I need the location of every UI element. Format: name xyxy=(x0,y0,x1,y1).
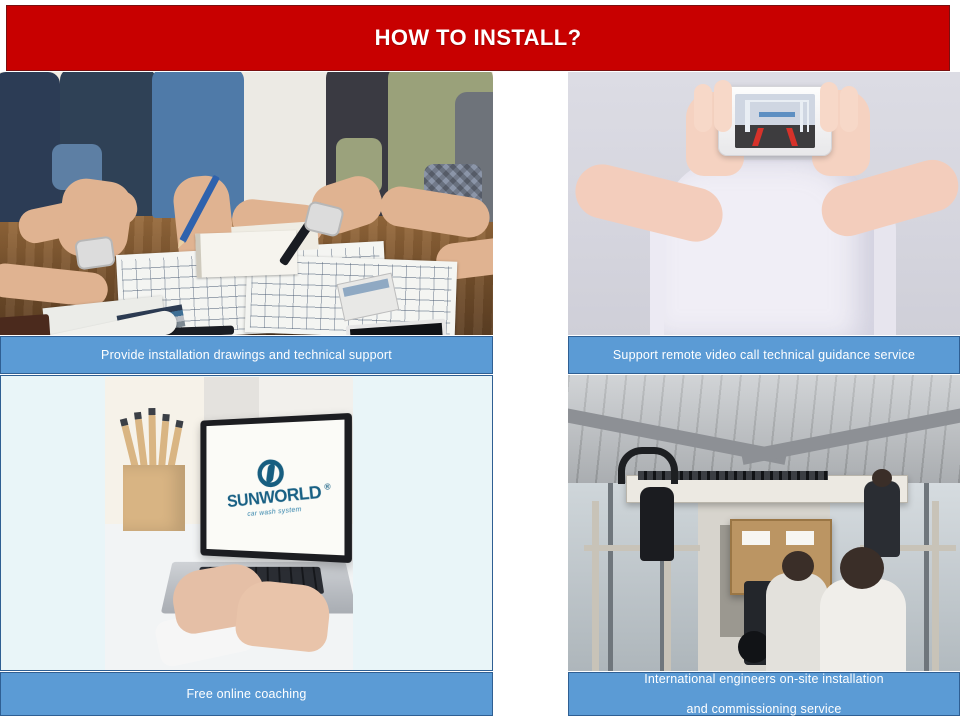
panel-bottom-right-photo xyxy=(568,375,960,671)
photo-video-call-guidance xyxy=(568,72,960,335)
worker-head xyxy=(782,551,814,581)
finger xyxy=(694,84,712,132)
header-banner: HOW TO INSTALL? xyxy=(6,5,950,71)
slide-root: HOW TO INSTALL? xyxy=(0,0,960,720)
registered-mark: ® xyxy=(324,482,331,492)
photo-installation-drawings xyxy=(0,72,493,335)
worker-head xyxy=(872,469,892,487)
caption-bottom-right: International engineers on-site installa… xyxy=(568,672,960,716)
photo-online-coaching: SUNWORLD® car wash system xyxy=(105,377,353,670)
mullion xyxy=(924,483,929,671)
crate-label xyxy=(742,531,770,545)
caption-text: Free online coaching xyxy=(178,687,314,702)
caption-line-1: International engineers on-site installa… xyxy=(636,672,892,687)
caption-top-left: Provide installation drawings and techni… xyxy=(0,336,493,374)
scaffold-post xyxy=(932,501,939,671)
worker-head xyxy=(840,547,884,589)
laptop: SUNWORLD® car wash system xyxy=(167,417,351,627)
caption-line-2: and commissioning service xyxy=(636,702,892,717)
finger xyxy=(840,86,858,132)
caption-text: International engineers on-site installa… xyxy=(628,672,900,717)
caption-text: Provide installation drawings and techni… xyxy=(93,348,400,363)
photo-onsite-installation xyxy=(568,375,960,671)
gantry-leg xyxy=(747,102,750,132)
panel-bottom-left-photo: SUNWORLD® car wash system xyxy=(0,375,493,671)
smartphone xyxy=(718,86,832,156)
mullion xyxy=(608,483,613,671)
wallet xyxy=(0,314,51,335)
glass-wall xyxy=(568,483,700,671)
panel-top-left-photo xyxy=(0,72,493,335)
worker-on-scaffold xyxy=(864,481,900,557)
finger xyxy=(714,80,732,132)
laptop-screen: SUNWORLD® car wash system xyxy=(206,420,344,556)
person-torso xyxy=(0,72,60,222)
laptop-lid: SUNWORLD® car wash system xyxy=(200,413,352,563)
caption-text: Support remote video call technical guid… xyxy=(605,348,923,363)
crate-label xyxy=(786,531,814,545)
panel-top-right-photo xyxy=(568,72,960,335)
worker-white-shirt xyxy=(820,579,906,671)
cable-chain-arc xyxy=(618,447,678,484)
wristwatch xyxy=(74,236,116,271)
scaffold-post xyxy=(592,501,599,671)
caption-bottom-left: Free online coaching xyxy=(0,672,493,716)
caption-top-right: Support remote video call technical guid… xyxy=(568,336,960,374)
pencil xyxy=(149,415,157,471)
page-title: HOW TO INSTALL? xyxy=(375,25,582,51)
finger xyxy=(820,82,838,132)
gear-icon xyxy=(256,458,285,489)
phone-screen xyxy=(735,94,815,148)
sunworld-logo: SUNWORLD® car wash system xyxy=(224,453,323,519)
worker-on-scaffold xyxy=(640,487,674,561)
worker-white-shirt xyxy=(766,573,828,671)
gantry-leg xyxy=(800,102,803,132)
